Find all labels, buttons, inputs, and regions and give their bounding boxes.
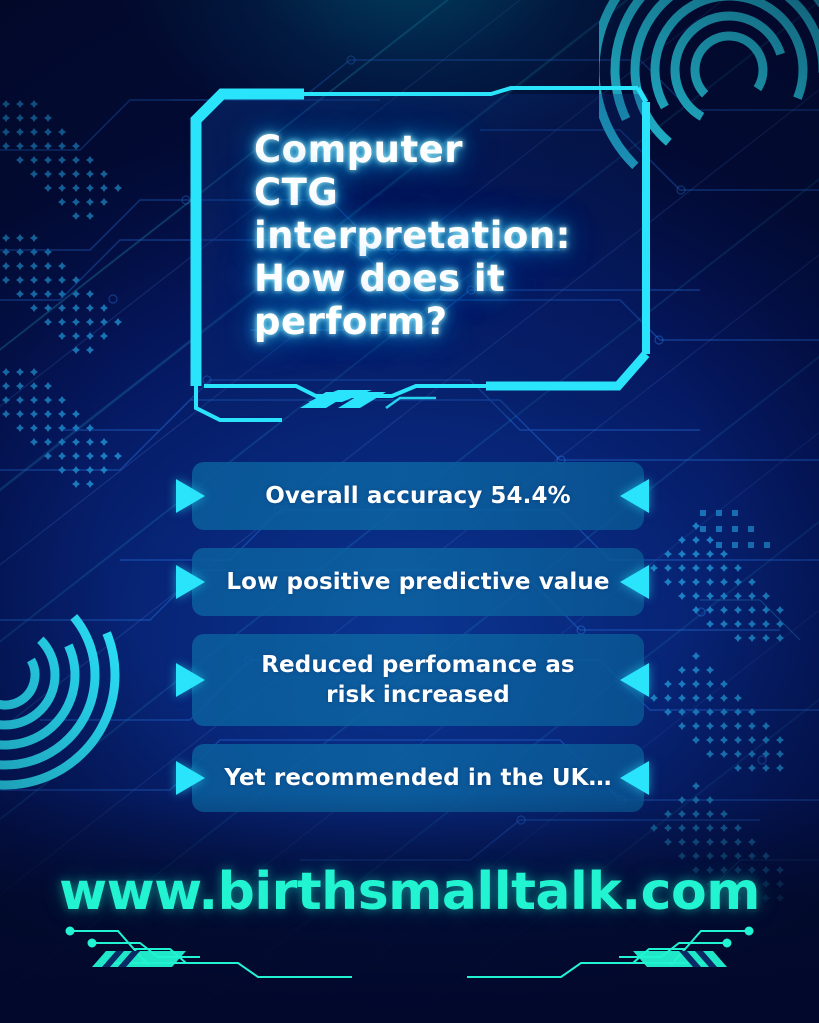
bullet-item[interactable]: Low positive predictive value (0, 548, 819, 616)
right-arrow-icon (620, 761, 649, 795)
poster-canvas: Computer CTG interpretation: How does it… (0, 0, 819, 1023)
bullet-box[interactable]: Reduced perfomance as risk increased (192, 634, 644, 726)
left-arrow-icon (176, 565, 205, 599)
hud-fill-right (633, 951, 727, 967)
left-arrow-icon (176, 761, 205, 795)
left-arrow-icon (176, 479, 205, 513)
bullet-label: Reduced perfomance as risk increased (247, 650, 588, 710)
left-arrow-icon (176, 663, 205, 697)
right-arrow-icon (620, 479, 649, 513)
hud-fill-left (92, 951, 186, 967)
bottom-hud (0, 919, 819, 989)
bullet-label: Low positive predictive value (212, 567, 623, 597)
bullet-box[interactable]: Overall accuracy 54.4% (192, 462, 644, 530)
right-arrow-icon (620, 565, 649, 599)
bullet-box[interactable]: Low positive predictive value (192, 548, 644, 616)
bullet-list: Overall accuracy 54.4% Low positive pred… (0, 462, 819, 830)
bullet-item[interactable]: Overall accuracy 54.4% (0, 462, 819, 530)
bullet-item[interactable]: Reduced perfomance as risk increased (0, 634, 819, 726)
bullet-label: Overall accuracy 54.4% (251, 481, 584, 511)
website-url[interactable]: www.birthsmalltalk.com (0, 862, 819, 922)
page-title: Computer CTG interpretation: How does it… (254, 128, 614, 343)
bullet-label: Yet recommended in the UK… (210, 763, 625, 793)
title-frame: Computer CTG interpretation: How does it… (186, 86, 656, 428)
right-arrow-icon (620, 663, 649, 697)
